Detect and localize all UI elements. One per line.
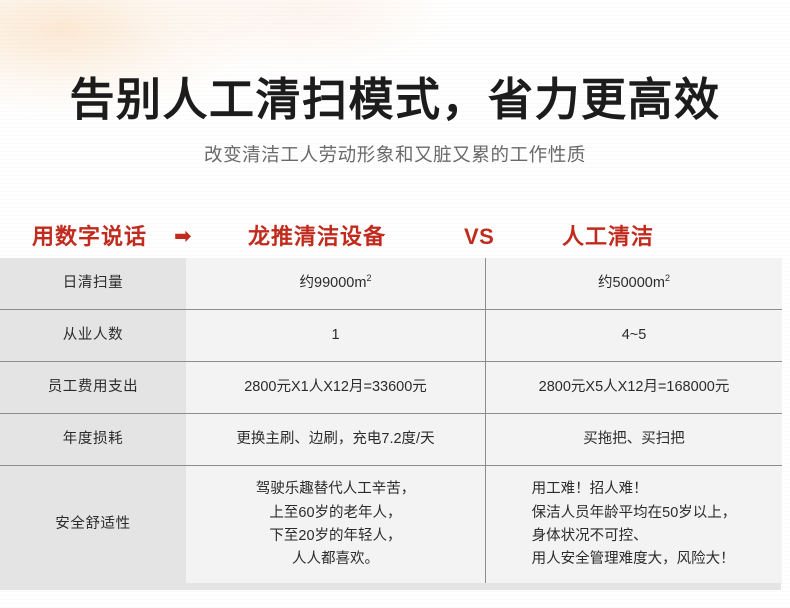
- row-label-cell: 安全舒适性: [0, 466, 186, 585]
- value-line: 身体状况不可控、: [532, 525, 737, 548]
- table-row: 从业人数 1 4~5: [0, 310, 782, 362]
- comparison-table: 日清扫量 约99000m2 约50000m2 从业人数 1 4~5: [0, 258, 782, 584]
- value-line: 下至20岁的年轻人，: [256, 525, 416, 548]
- row-label-text: 从业人数: [53, 327, 133, 343]
- row-value-product: 更换主刷、边刷，充电7.2度/天: [186, 414, 486, 466]
- value-text: 2800元X1人X12月=33600元: [234, 379, 437, 395]
- value-multiline-product: 驾驶乐趣替代人工辛苦，上至60岁的老年人，下至20岁的年轻人，人人都喜欢。: [256, 478, 416, 572]
- value-text: 4~5: [612, 327, 657, 343]
- row-value-manual: 2800元X5人X12月=168000元: [486, 362, 783, 414]
- row-value-manual: 用工难！招人难！保洁人员年龄平均在50岁以上，身体状况不可控、用人安全管理难度大…: [486, 466, 783, 585]
- row-label-text: 员工费用支出: [38, 379, 149, 395]
- table-row: 年度损耗 更换主刷、边刷，充电7.2度/天 买拖把、买扫把: [0, 414, 782, 466]
- row-label-text: 安全舒适性: [45, 516, 141, 532]
- value-line: 上至60岁的老年人，: [256, 502, 416, 525]
- hero-heading-block: 告别人工清扫模式，省力更高效 改变清洁工人劳动形象和又脏又累的工作性质: [0, 0, 790, 167]
- column-header-manual: 人工清洁: [562, 216, 654, 258]
- superscript-two: 2: [366, 273, 371, 283]
- value-line: 人人都喜欢。: [256, 548, 416, 571]
- comparison-header-row: 用数字说话 ➡ 龙推清洁设备 VS 人工清洁: [0, 216, 790, 258]
- superscript-two: 2: [665, 273, 670, 283]
- value-multiline-manual: 用工难！招人难！保洁人员年龄平均在50岁以上，身体状况不可控、用人安全管理难度大…: [532, 478, 737, 572]
- value-text: 约50000m: [598, 275, 665, 291]
- value-line: 驾驶乐趣替代人工辛苦，: [256, 478, 416, 501]
- row-label-cell: 员工费用支出: [0, 362, 186, 414]
- vs-label: VS: [464, 216, 494, 258]
- row-label-text: 年度损耗: [53, 431, 133, 447]
- row-value-product: 2800元X1人X12月=33600元: [186, 362, 486, 414]
- row-value-manual: 买拖把、买扫把: [486, 414, 783, 466]
- comparison-infographic-page: 告别人工清扫模式，省力更高效 改变清洁工人劳动形象和又脏又累的工作性质 用数字说…: [0, 0, 790, 608]
- value-text: 约99000m: [300, 275, 367, 291]
- table-row: 安全舒适性 驾驶乐趣替代人工辛苦，上至60岁的老年人，下至20岁的年轻人，人人都…: [0, 466, 782, 585]
- arrow-right-icon: ➡: [174, 216, 193, 258]
- table-row: 员工费用支出 2800元X1人X12月=33600元 2800元X5人X12月=…: [0, 362, 782, 414]
- row-value-product: 驾驶乐趣替代人工辛苦，上至60岁的老年人，下至20岁的年轻人，人人都喜欢。: [186, 466, 486, 585]
- table-bottom-rail: [0, 583, 781, 590]
- value-text: 买拖把、买扫把: [573, 431, 695, 447]
- value-line: 用工难！招人难！: [532, 478, 737, 501]
- column-header-product: 龙推清洁设备: [248, 216, 386, 258]
- row-label-cell: 从业人数: [0, 310, 186, 362]
- row-value-manual: 4~5: [486, 310, 783, 362]
- value-text: 1: [321, 327, 349, 343]
- row-value-product: 1: [186, 310, 486, 362]
- page-subtitle: 改变清洁工人劳动形象和又脏又累的工作性质: [0, 141, 790, 167]
- value-line: 用人安全管理难度大，风险大！: [532, 548, 737, 571]
- page-title: 告别人工清扫模式，省力更高效: [0, 76, 790, 125]
- row-value-product: 约99000m2: [186, 258, 486, 310]
- row-label-cell: 日清扫量: [0, 258, 186, 310]
- row-label-text: 日清扫量: [53, 275, 133, 291]
- table-row: 日清扫量 约99000m2 约50000m2: [0, 258, 782, 310]
- value-text: 更换主刷、边刷，充电7.2度/天: [226, 431, 444, 447]
- row-label-cell: 年度损耗: [0, 414, 186, 466]
- value-text: 2800元X5人X12月=168000元: [529, 379, 740, 395]
- speak-with-numbers-label: 用数字说话: [32, 216, 147, 258]
- row-value-manual: 约50000m2: [486, 258, 783, 310]
- value-line: 保洁人员年龄平均在50岁以上，: [532, 502, 737, 525]
